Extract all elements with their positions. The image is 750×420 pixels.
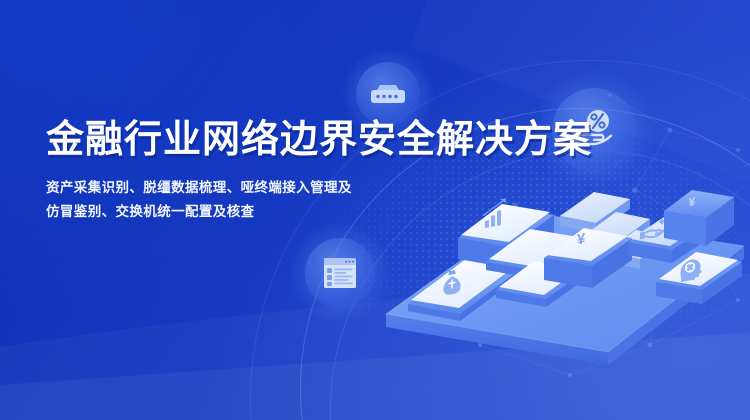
page-subtitle: 资产采集识别、脱缰数据梳理、哑终端接入管理及 仿冒鉴别、交换机统一配置及核查: [46, 176, 592, 223]
subtitle-line-2: 仿冒鉴别、交换机统一配置及核查: [46, 200, 592, 224]
page-title: 金融行业网络边界安全解决方案: [46, 118, 592, 162]
router-icon: [369, 81, 407, 107]
banner-root: ¥: [0, 0, 750, 420]
yen-symbol-icon: ¥: [577, 230, 586, 248]
badge-document-form: [305, 238, 375, 308]
block-yen-elevated: ¥: [664, 190, 734, 246]
yen-glyph-elevated: ¥: [689, 194, 696, 209]
headline-block: 金融行业网络边界安全解决方案 资产采集识别、脱缰数据梳理、哑终端接入管理及 仿冒…: [46, 118, 592, 223]
yen-glyph: ¥: [577, 230, 586, 248]
badge-router-device: [356, 62, 420, 126]
yen-symbol-icon-elevated: ¥: [689, 194, 696, 209]
subtitle-line-1: 资产采集识别、脱缰数据梳理、哑终端接入管理及: [46, 176, 592, 200]
document-form-icon: [323, 257, 357, 289]
